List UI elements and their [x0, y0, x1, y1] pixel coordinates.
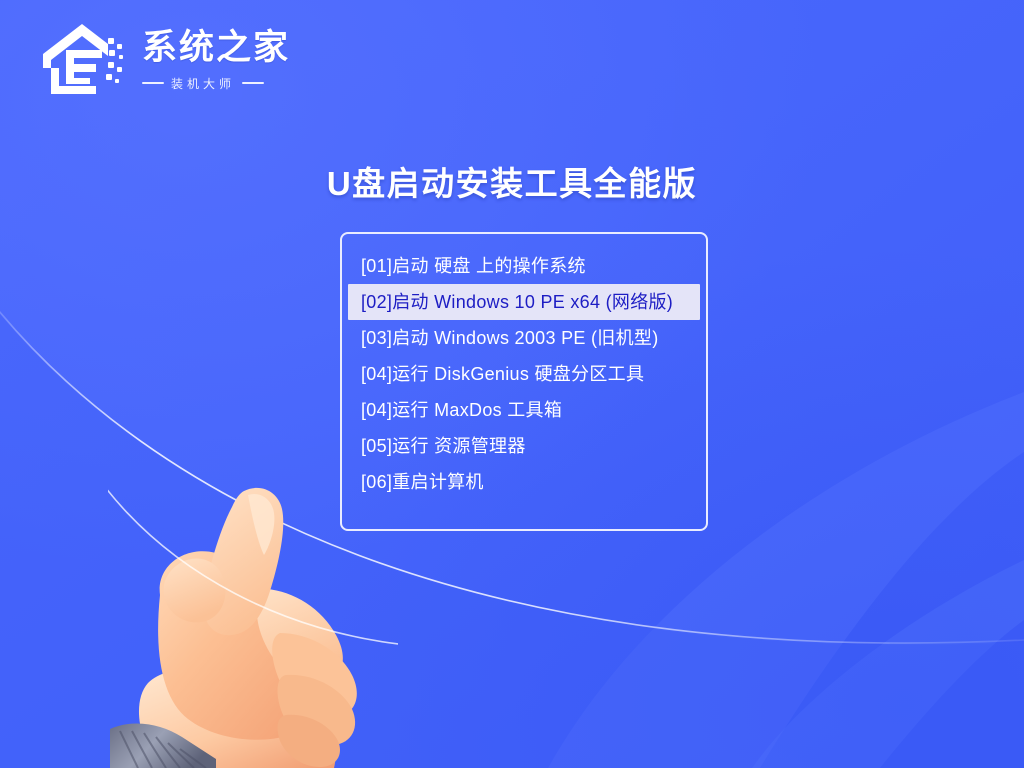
- house-pixel-logo-icon: [38, 20, 130, 100]
- menu-item-03[interactable]: [03]启动 Windows 2003 PE (旧机型): [350, 320, 698, 356]
- menu-item-05[interactable]: [05]运行 资源管理器: [350, 428, 698, 464]
- tagline-rule-left: [142, 82, 164, 84]
- menu-item-06[interactable]: [06]重启计算机: [350, 464, 698, 500]
- boot-menu-screen: 系统之家 装机大师 U盘启动安装工具全能版 [01]启动 硬盘 上的操作系统 […: [0, 0, 1024, 768]
- page-title: U盘启动安装工具全能版: [0, 157, 1024, 205]
- brand-tagline: 装机大师: [142, 75, 290, 92]
- pointing-hand-illustration: [108, 483, 398, 768]
- brand-text: 系统之家 装机大师: [142, 28, 290, 91]
- brand-logo: 系统之家 装机大师: [38, 18, 290, 102]
- menu-item-01[interactable]: [01]启动 硬盘 上的操作系统: [350, 248, 698, 284]
- menu-item-04-diskgenius[interactable]: [04]运行 DiskGenius 硬盘分区工具: [350, 356, 698, 392]
- tagline-rule-right: [242, 82, 264, 84]
- menu-item-04-maxdos[interactable]: [04]运行 MaxDos 工具箱: [350, 392, 698, 428]
- tagline-text: 装机大师: [171, 75, 235, 92]
- boot-menu-list: [01]启动 硬盘 上的操作系统 [02]启动 Windows 10 PE x6…: [342, 248, 706, 500]
- brand-name: 系统之家: [142, 28, 290, 67]
- menu-item-02[interactable]: [02]启动 Windows 10 PE x64 (网络版): [348, 284, 700, 320]
- hand-graphic: [108, 483, 398, 768]
